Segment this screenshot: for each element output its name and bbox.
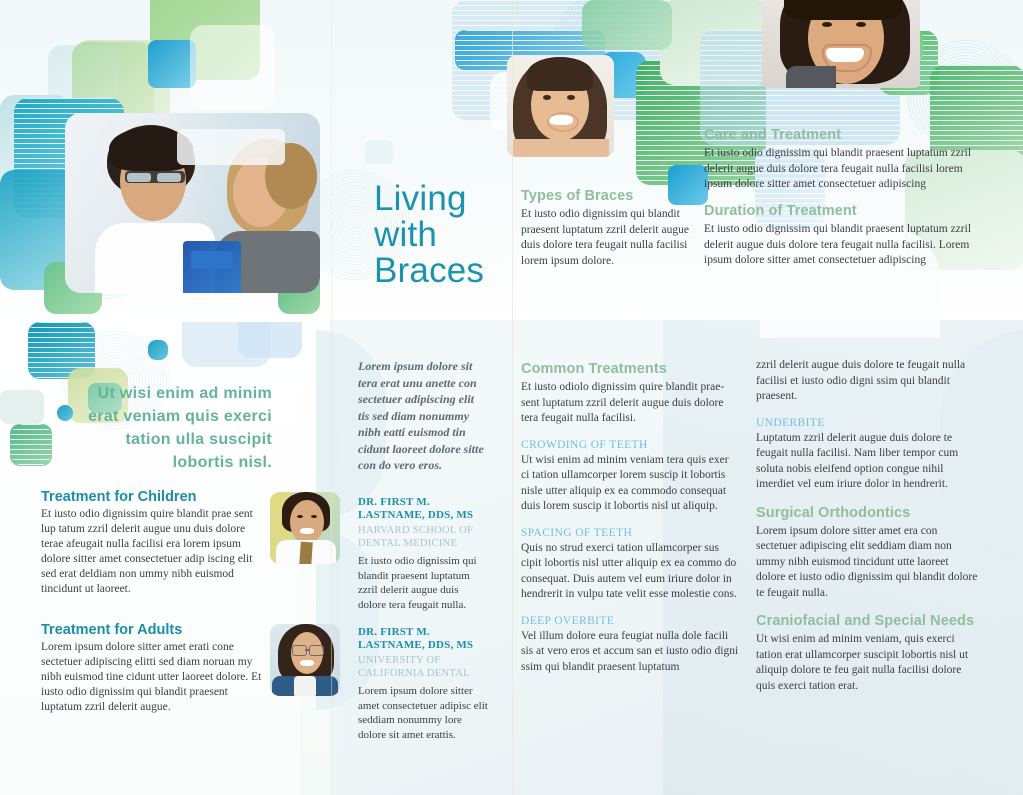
photo-doctor-female [270, 624, 340, 696]
heading-duration-of-treatment: Duration of Treatment [704, 203, 976, 219]
doctor-2-bio: Lorem ipsum dolore sitter amet consectet… [358, 684, 488, 742]
body-surgical-orthodontics: Lorem ipsum dolore sitter amet era con s… [756, 524, 978, 602]
decor-square-white-1 [190, 25, 275, 110]
fold-line-left [331, 0, 332, 795]
doctor-1-school: HARVARD SCHOOL OF DENTAL MEDICINE [358, 525, 488, 550]
doctor-2-name: DR. FIRST M. LASTNAME, DDS, MS [358, 626, 488, 652]
body-types-of-braces: Et iusto odio dignissim qui blandit prae… [521, 207, 696, 269]
body-continuation: zzril delerit augue duis dolore te feuga… [756, 358, 978, 405]
section-back-right-column: zzril delerit augue duis dolore te feuga… [756, 358, 978, 706]
heading-craniofacial: Craniofacial and Special Needs [756, 613, 978, 629]
heading-care-and-treatment: Care and Treatment [704, 127, 976, 143]
section-care-and-treatment: Care and Treatment Et iusto odio digniss… [704, 127, 976, 205]
photo-doctor-male [270, 492, 340, 564]
section-common-treatments: Common Treatments Et iusto odiolo dignis… [521, 361, 739, 687]
doctor-bio-2: DR. FIRST M. LASTNAME, DDS, MS UNIVERSIT… [358, 626, 488, 742]
decor-square-teal-bottom-4 [57, 405, 73, 421]
decor-square-aqua-2 [582, 0, 672, 50]
heading-surgical-orthodontics: Surgical Orthodontics [756, 505, 978, 521]
brochure-page: Living with Braces Types of Braces Et iu… [0, 0, 1023, 795]
cover-title: Living with Braces [374, 181, 504, 289]
doctor-bio-1: DR. FIRST M. LASTNAME, DDS, MS HARVARD S… [358, 496, 488, 612]
decor-square-pale-3 [238, 322, 302, 358]
body-treatment-for-children: Et iusto odio dignissim quire blandit pr… [41, 507, 263, 597]
body-care-and-treatment: Et iusto odio dignissim qui blandit prae… [704, 146, 976, 193]
subhead-deep-overbite: DEEP OVERBITE [521, 615, 739, 627]
decor-square-white-3 [365, 140, 393, 164]
photo-smiling-young-man [762, 0, 920, 88]
body-treatment-for-adults: Lorem ipsum dolore sitter amet erati con… [41, 640, 263, 715]
heading-types-of-braces: Types of Braces [521, 188, 696, 204]
decor-square-blue-small-1 [148, 40, 196, 88]
body-crowding-of-teeth: Ut wisi enim ad minim veniam tera quis e… [521, 453, 739, 515]
photo-dentist-with-patient [65, 113, 320, 293]
pullquote-back-left: Ut wisi enim ad minim erat veniam quis e… [72, 382, 272, 474]
doctor-1-name: DR. FIRST M. LASTNAME, DDS, MS [358, 496, 488, 522]
body-common-treatments: Et iusto odiolo dignissim quire blandit … [521, 380, 739, 427]
subhead-crowding-of-teeth: CROWDING OF TEETH [521, 439, 739, 451]
cover-title-line-2: with [374, 217, 504, 253]
cover-title-line-1: Living [374, 181, 504, 217]
body-duration-of-treatment: Et iusto odio dignissim qui blandit prae… [704, 222, 976, 269]
decor-square-pale-1 [0, 390, 44, 424]
body-spacing-of-teeth: Quis no strud exerci tation ullamcorper … [521, 541, 739, 603]
subhead-underbite: UNDERBITE [756, 417, 978, 429]
fold-line-center [512, 0, 513, 795]
subhead-spacing-of-teeth: SPACING OF TEETH [521, 527, 739, 539]
section-treatment-for-children: Treatment for Children Et iusto odio dig… [41, 489, 263, 609]
section-treatment-for-adults: Treatment for Adults Lorem ipsum dolore … [41, 622, 263, 727]
section-duration-of-treatment: Duration of Treatment Et iusto odio dign… [704, 203, 976, 281]
section-types-of-braces: Types of Braces Et iusto odio dignissim … [521, 188, 696, 281]
body-underbite: Luptatum zzril delerit augue duis dolore… [756, 431, 978, 493]
photo-smiling-young-woman [507, 55, 614, 157]
doctor-2-school: UNIVERSITY OF CALIFORNIA DENTAL [358, 655, 488, 680]
doctor-1-bio: Et iusto odio dignissim qui blandit prae… [358, 554, 488, 612]
body-craniofacial: Ut wisi enim ad minim veniam, quis exerc… [756, 632, 978, 694]
heading-common-treatments: Common Treatments [521, 361, 739, 377]
body-deep-overbite: Vel illum dolore eura feugiat nulla dole… [521, 629, 739, 676]
cover-title-line-3: Braces [374, 253, 504, 289]
quote-back-middle: Lorem ipsum dolore sit tera erat unu ane… [358, 358, 488, 474]
decor-stripes-green-bottom-1 [10, 424, 52, 466]
heading-treatment-for-adults: Treatment for Adults [41, 622, 263, 638]
heading-treatment-for-children: Treatment for Children [41, 489, 263, 505]
decor-square-teal-bottom-2 [148, 340, 168, 360]
